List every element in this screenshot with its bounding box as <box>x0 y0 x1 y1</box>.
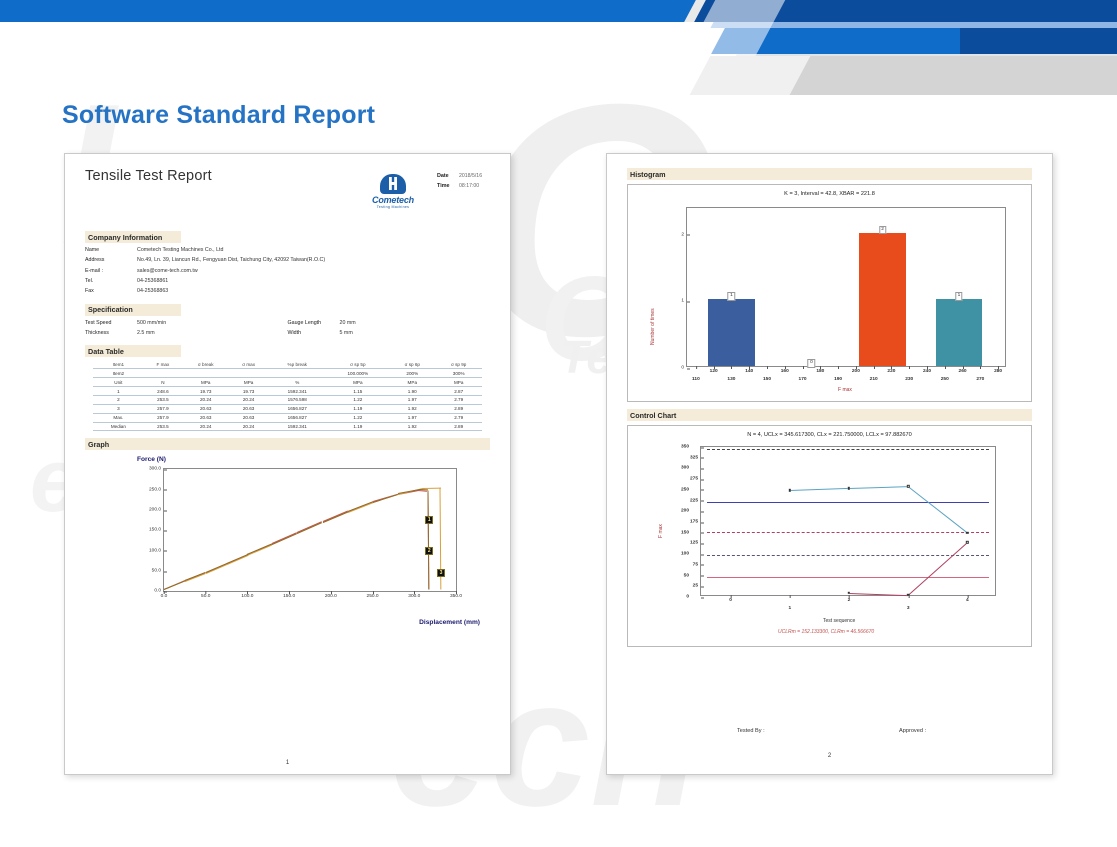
control-chart-series-segment <box>908 542 968 595</box>
control-chart-y-tick: 300 <box>681 466 701 471</box>
time-value: 08:17:00 <box>459 183 479 189</box>
specification-left-column: Test Speed500 mm/minThickness2.5 mm <box>85 318 288 339</box>
table-row-unit: UnitNMPaMPa%MPaMPaMPa <box>93 378 482 387</box>
chart1-series-segment <box>297 522 322 534</box>
control-chart-y-title: F max <box>658 524 664 538</box>
data-table-cell <box>229 369 268 378</box>
histogram-x-tick-upper: 200 <box>852 366 860 374</box>
histogram-x-tick-lower: 150 <box>763 366 771 382</box>
data-table-cell: MPa <box>182 378 229 387</box>
histogram-x-tick-upper: 220 <box>887 366 895 374</box>
histogram-x-tick-upper: 180 <box>816 366 824 374</box>
control-chart-x-title: Test sequence <box>823 618 855 624</box>
section-specification: Specification <box>85 304 181 316</box>
time-row: Time 08:17:00 <box>437 183 482 189</box>
control-chart-y-tick: 125 <box>690 541 701 546</box>
company-information-list: NameCometech Testing Machines Co., LtdAd… <box>85 245 490 297</box>
table-row: Median253.520.2420.241592.3411.191.922.8… <box>93 422 482 431</box>
table-row: Max.257.920.6320.631656.8271.221.972.79 <box>93 413 482 422</box>
spec-row: Test Speed500 mm/min <box>85 318 288 328</box>
table-row: 1248.619.7319.731592.3411.151.902.87 <box>93 386 482 395</box>
data-table-cell <box>268 369 327 378</box>
data-table-cell <box>144 369 183 378</box>
control-chart-y-tick: 25 <box>693 584 701 589</box>
company-row: Tel.04-25368861 <box>85 276 490 286</box>
chart1-x-tick: 150.0 <box>283 591 295 599</box>
spec-value: 500 mm/min <box>137 318 166 328</box>
company-value: Cometech Testing Machines Co., Ltd <box>137 245 223 255</box>
data-table-cell: MPa <box>229 378 268 387</box>
section-graph: Graph <box>85 438 490 450</box>
company-value: sales@come-tech.com.tw <box>137 266 198 276</box>
chart1-series-segment <box>322 511 347 522</box>
page2-content: Histogram K = 3, Interval = 42.8, XBAR =… <box>627 168 1032 647</box>
histogram-bar-label: 1 <box>728 292 735 301</box>
data-table-cell: 20.63 <box>229 404 268 413</box>
control-chart-y-tick: 350 <box>681 445 701 450</box>
section-company-information: Company Information <box>85 231 181 243</box>
company-value: 04-25368861 <box>137 276 168 286</box>
chart1-series-segment <box>427 490 429 589</box>
data-table-col-header: σ sp 9p <box>435 360 481 368</box>
histogram-bar <box>708 299 754 366</box>
histogram-x-tick-lower: 210 <box>870 366 878 382</box>
data-table-cell: 1656.827 <box>268 413 327 422</box>
data-table-cell: 248.6 <box>144 386 183 395</box>
data-table-cell: 1656.827 <box>268 404 327 413</box>
data-table-cell: 300% <box>435 369 481 378</box>
data-table-cell <box>182 369 229 378</box>
company-key: Fax <box>85 286 137 296</box>
data-table-cell: 1592.341 <box>268 422 327 431</box>
company-value: 04-25368863 <box>137 286 168 296</box>
chart1-x-tick: 100.0 <box>241 591 253 599</box>
histogram-bar <box>936 299 982 366</box>
data-table-cell: 20.63 <box>182 404 229 413</box>
control-chart-y-tick: 0 <box>686 595 701 600</box>
control-chart-data-point <box>848 592 850 594</box>
control-limit-line-UCLx <box>707 449 989 450</box>
date-row: Date 2018/5/16 <box>437 173 482 179</box>
control-chart-data-point <box>966 532 968 534</box>
data-table-cell: 257.9 <box>144 404 183 413</box>
data-table-col-header: σ sp 5p <box>327 360 390 368</box>
company-key: Tel. <box>85 276 137 286</box>
histogram-y-tick: 1 <box>681 299 687 304</box>
data-table-cell: 257.9 <box>144 413 183 422</box>
table-row: 2253.520.2420.241576.5981.221.972.79 <box>93 395 482 404</box>
data-table: Item1F maxσ breakσ max%p breakσ sp 5pσ s… <box>93 360 482 431</box>
force-displacement-chart: Force (N) 0.050.0100.0150.0200.0250.0300… <box>85 452 490 627</box>
data-table-cell: 1576.598 <box>268 395 327 404</box>
spec-row: Thickness2.5 mm <box>85 328 288 338</box>
control-chart-data-point <box>789 489 791 491</box>
data-table-cell: 2 <box>93 395 144 404</box>
company-row: E-mail :sales@come-tech.com.tw <box>85 266 490 276</box>
histogram-x-tick-lower: 110 <box>692 366 700 382</box>
control-chart-footnote: UCLRm = 152.133300, CLRm = 46.566670 <box>778 629 874 635</box>
chart1-series-segment <box>272 533 297 545</box>
company-row: AddressNo.49, Ln. 39, Liancun Rd., Fengy… <box>85 255 490 265</box>
report-datetime: Date 2018/5/16 Time 08:17:00 <box>437 173 482 193</box>
control-limit-line-LCLx <box>707 555 989 556</box>
data-table-cell: N <box>144 378 183 387</box>
data-table-cell: 20.24 <box>229 395 268 404</box>
control-chart-series-segment <box>849 486 908 489</box>
control-chart: N = 4, UCLx = 345.617300, CLx = 221.7500… <box>627 425 1032 647</box>
histogram-x-tick-lower: 250 <box>941 366 949 382</box>
report-page-2: Histogram K = 3, Interval = 42.8, XBAR =… <box>606 153 1053 775</box>
histogram-x-tick-upper: 120 <box>710 366 718 374</box>
data-table-header-row: Item1F maxσ breakσ max%p breakσ sp 5pσ s… <box>93 360 482 368</box>
data-table-cell: 1.22 <box>327 413 390 422</box>
section-control-chart: Control Chart <box>627 409 1032 421</box>
chart1-series-segment <box>226 554 247 564</box>
time-label: Time <box>437 183 459 189</box>
spec-value: 20 mm <box>340 318 356 328</box>
data-table-cell: Max. <box>93 413 144 422</box>
logo-tagline: Testing Machines <box>353 205 433 209</box>
data-table-cell: 19.73 <box>229 386 268 395</box>
top-banner <box>0 0 1117 95</box>
control-chart-y-tick: 225 <box>690 498 701 503</box>
histogram-x-tick-upper: 280 <box>994 366 1002 374</box>
control-limit-line-UCLRm <box>707 532 989 533</box>
section-histogram: Histogram <box>627 168 1032 180</box>
company-key: Name <box>85 245 137 255</box>
approved-label: Approved : <box>899 728 926 734</box>
spec-key: Gauge Length <box>288 318 340 328</box>
data-table-cell: 20.63 <box>182 413 229 422</box>
control-chart-y-tick: 50 <box>684 573 701 578</box>
chart1-x-tick: 300.0 <box>408 591 420 599</box>
histogram-plot-area: 0121021120140160180200220240260280110130… <box>686 207 1006 367</box>
control-chart-y-tick: 275 <box>690 477 701 482</box>
histogram-x-tick-lower: 190 <box>834 366 842 382</box>
spec-row: Gauge Length20 mm <box>288 318 491 328</box>
control-chart-x-tick: 1 <box>788 595 791 611</box>
chart1-y-tick: 200.0 <box>149 508 164 513</box>
spec-value: 2.5 mm <box>137 328 155 338</box>
histogram-x-tick-lower: 170 <box>799 366 807 382</box>
table-row: 3257.920.6320.631656.8271.191.922.89 <box>93 404 482 413</box>
data-table-cell: 253.5 <box>144 395 183 404</box>
data-table-cell: 1.92 <box>389 422 435 431</box>
data-table-cell: 20.24 <box>182 422 229 431</box>
logo-wordmark: Cometech <box>353 195 433 205</box>
histogram-x-title: F max <box>838 387 852 393</box>
control-chart-data-point <box>966 541 968 543</box>
control-chart-title: N = 4, UCLx = 345.617300, CLx = 221.7500… <box>628 432 1031 438</box>
date-label: Date <box>437 173 459 179</box>
chart1-y-title: Force (N) <box>137 456 166 463</box>
company-row: NameCometech Testing Machines Co., Ltd <box>85 245 490 255</box>
data-table-cell: 1.97 <box>389 413 435 422</box>
data-table-cell: 253.5 <box>144 422 183 431</box>
control-chart-data-point <box>907 594 909 596</box>
data-table-col-header: Item1 <box>93 360 144 368</box>
control-chart-x-tick: 4 <box>966 595 969 603</box>
data-table-cell: 200% <box>389 369 435 378</box>
data-table-cell: 1592.341 <box>268 386 327 395</box>
control-chart-y-tick: 175 <box>690 520 701 525</box>
data-table-cell: % <box>268 378 327 387</box>
data-table-cell: MPa <box>435 378 481 387</box>
control-chart-y-tick: 325 <box>690 455 701 460</box>
spec-row: Width5 mm <box>288 328 491 338</box>
histogram-x-tick-upper: 240 <box>923 366 931 374</box>
chart1-plot-area: 0.050.0100.0150.0200.0250.0300.00.050.01… <box>163 468 457 592</box>
control-chart-y-tick: 100 <box>681 552 701 557</box>
histogram-y-tick: 0 <box>681 366 687 371</box>
chart1-annotation-marker: 1 <box>425 516 433 524</box>
data-table-col-header: σ sp 6p <box>389 360 435 368</box>
page1-number: 1 <box>85 760 490 766</box>
control-chart-series-segment <box>908 487 968 534</box>
histogram-x-tick-lower: 130 <box>727 366 735 382</box>
data-table-col-header: σ max <box>229 360 268 368</box>
control-chart-series-segment <box>849 593 908 596</box>
data-table-cell: 1.19 <box>327 422 390 431</box>
chart1-x-title: Displacement (mm) <box>419 619 480 626</box>
chart1-y-tick: 250.0 <box>149 487 164 492</box>
spec-key: Thickness <box>85 328 137 338</box>
tested-by-label: Tested By : <box>737 728 765 734</box>
chart1-x-tick: 0.0 <box>161 591 168 599</box>
data-table-col-header: σ break <box>182 360 229 368</box>
histogram-y-title: Number of times <box>650 308 656 345</box>
data-table-cell: 2.79 <box>435 395 481 404</box>
chart1-x-tick: 350.0 <box>450 591 462 599</box>
chart1-series-segment <box>372 493 397 502</box>
chart1-series-segment <box>247 544 272 555</box>
chart1-x-tick: 50.0 <box>201 591 210 599</box>
data-table-col-header: %p break <box>268 360 327 368</box>
data-table-cell: Unit <box>93 378 144 387</box>
control-chart-series-segment <box>790 488 849 491</box>
date-value: 2018/5/16 <box>459 173 482 179</box>
control-chart-y-tick: 250 <box>681 487 701 492</box>
data-table-cell: 3 <box>93 404 144 413</box>
control-chart-data-point <box>907 485 909 487</box>
data-table-cell: 1.22 <box>327 395 390 404</box>
company-key: E-mail : <box>85 266 137 276</box>
histogram-bar-label: 2 <box>879 226 886 235</box>
specification-right-column: Gauge Length20 mmWidth5 mm <box>288 318 491 339</box>
chart1-series-segment <box>347 502 372 513</box>
company-key: Address <box>85 255 137 265</box>
cometech-logo: Cometech Testing Machines <box>353 174 433 209</box>
page-title: Software Standard Report <box>62 101 375 130</box>
control-chart-x-tick: 0 <box>729 595 732 603</box>
chart1-annotation-marker: 3 <box>437 569 445 577</box>
data-table-cell: MPa <box>389 378 435 387</box>
histogram-title: K = 3, Interval = 42.8, XBAR = 221.8 <box>628 191 1031 197</box>
data-table-cell: 19.73 <box>182 386 229 395</box>
chart1-y-tick: 150.0 <box>149 528 164 533</box>
chart1-y-tick: 300.0 <box>149 467 164 472</box>
data-table-cell: Median <box>93 422 144 431</box>
spec-key: Width <box>288 328 340 338</box>
chart1-y-tick: 50.0 <box>152 569 164 574</box>
cometech-logo-icon <box>380 174 406 194</box>
histogram-bar-label: 1 <box>955 292 962 301</box>
company-row: Fax04-25368863 <box>85 286 490 296</box>
chart1-series-segment <box>164 580 185 589</box>
data-table-col-header: F max <box>144 360 183 368</box>
page2-number: 2 <box>627 753 1032 759</box>
data-table-cell: 1.15 <box>327 386 390 395</box>
histogram-chart: K = 3, Interval = 42.8, XBAR = 221.8 012… <box>627 184 1032 402</box>
histogram-y-tick: 2 <box>681 232 687 237</box>
data-table-cell: 1.97 <box>389 395 435 404</box>
histogram-bar <box>859 233 905 366</box>
data-table-cell: 2.87 <box>435 386 481 395</box>
data-table-cell: 20.24 <box>229 422 268 431</box>
control-chart-plot-area: 0255075100125150175200225250275300325350… <box>700 446 996 596</box>
data-table-cell: 2.89 <box>435 404 481 413</box>
table-row-item2: Item2100.000%200%300% <box>93 369 482 378</box>
data-table-body: Item2100.000%200%300%UnitNMPaMPa%MPaMPaM… <box>93 369 482 431</box>
control-chart-y-tick: 150 <box>681 530 701 535</box>
data-table-cell: 1.19 <box>327 404 390 413</box>
specification-grid: Test Speed500 mm/minThickness2.5 mm Gaug… <box>85 318 490 339</box>
histogram-x-tick-lower: 230 <box>905 366 913 382</box>
histogram-x-tick-upper: 260 <box>959 366 967 374</box>
chart1-x-tick: 250.0 <box>367 591 379 599</box>
data-table-cell: 1 <box>93 386 144 395</box>
data-table-cell: 2.89 <box>435 422 481 431</box>
spec-key: Test Speed <box>85 318 137 328</box>
data-table-cell: Item2 <box>93 369 144 378</box>
data-table-cell: 1.90 <box>389 386 435 395</box>
data-table-cell: 20.63 <box>229 413 268 422</box>
report-page-1: Tensile Test Report Cometech Testing Mac… <box>64 153 511 775</box>
spec-value: 5 mm <box>340 328 353 338</box>
chart1-x-tick: 200.0 <box>325 591 337 599</box>
control-chart-y-tick: 200 <box>681 509 701 514</box>
chart1-annotation-marker: 2 <box>425 547 433 555</box>
section-data-table: Data Table <box>85 345 181 357</box>
control-chart-x-tick: 3 <box>907 595 910 611</box>
control-chart-x-tick: 2 <box>848 595 851 603</box>
company-value: No.49, Ln. 39, Liancun Rd., Fengyuan Dis… <box>137 255 325 265</box>
histogram-x-tick-lower: 270 <box>976 366 984 382</box>
control-chart-y-tick: 75 <box>693 562 701 567</box>
histogram-x-tick-upper: 160 <box>781 366 789 374</box>
control-limit-line-CLRm <box>707 577 989 578</box>
data-table-cell: 20.24 <box>182 395 229 404</box>
data-table-cell: 1.92 <box>389 404 435 413</box>
data-table-cell: 100.000% <box>327 369 390 378</box>
chart1-series-segment <box>206 563 227 573</box>
control-limit-line-CLx <box>707 502 989 503</box>
data-table-cell: 2.79 <box>435 413 481 422</box>
control-chart-data-point <box>848 487 850 489</box>
histogram-bar-label: 0 <box>808 359 815 368</box>
page1-content: Tensile Test Report Cometech Testing Mac… <box>85 168 490 627</box>
chart1-y-tick: 100.0 <box>149 548 164 553</box>
histogram-x-tick-upper: 140 <box>745 366 753 374</box>
data-table-cell: MPa <box>327 378 390 387</box>
